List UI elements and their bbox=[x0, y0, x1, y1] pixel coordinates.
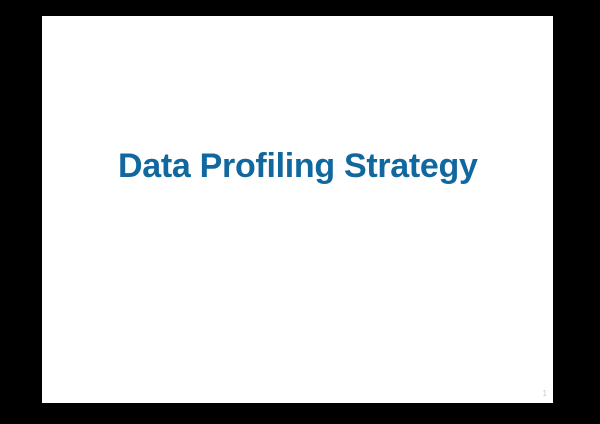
page-title: Data Profiling Strategy bbox=[118, 144, 518, 188]
slide-surface[interactable]: Data Profiling Strategy 1 bbox=[42, 16, 553, 403]
title-placeholder[interactable]: Data Profiling Strategy bbox=[42, 16, 553, 403]
slide-number: 1 bbox=[543, 389, 547, 399]
presentation-canvas: Data Profiling Strategy 1 bbox=[0, 0, 600, 424]
